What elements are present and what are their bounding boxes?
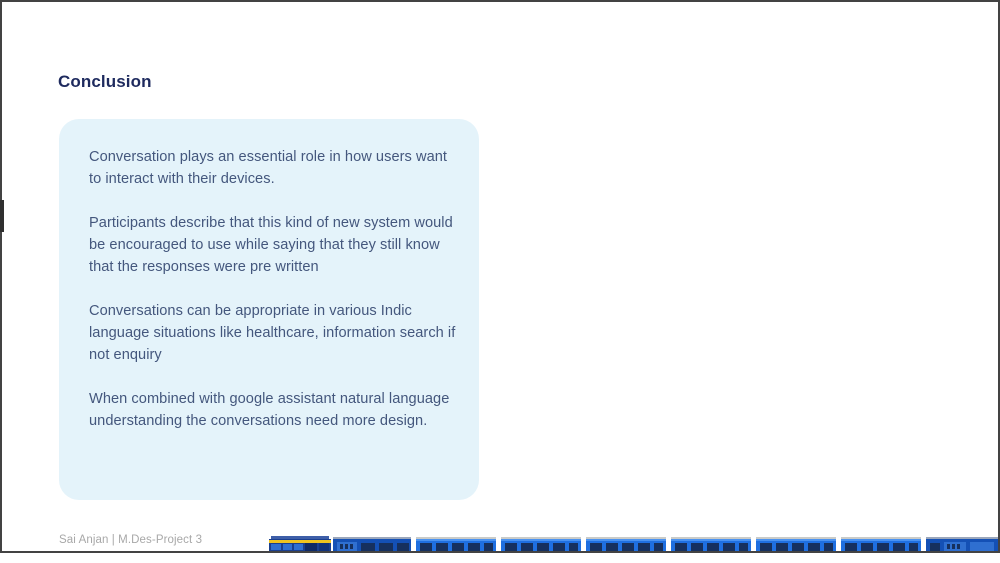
conclusion-paragraph-1: Conversation plays an essential role in …	[89, 146, 457, 190]
conclusion-paragraph-3: Conversations can be appropriate in vari…	[89, 300, 457, 366]
train-graphic	[267, 530, 998, 551]
conclusion-card: Conversation plays an essential role in …	[59, 119, 479, 500]
slide-frame: Conclusion Conversation plays an essenti…	[0, 0, 1000, 563]
train-coach	[756, 537, 836, 551]
card-body: Conversation plays an essential role in …	[89, 146, 467, 432]
footer-credit: Sai Anjan | M.Des-Project 3	[59, 534, 202, 546]
train-coach	[586, 537, 666, 551]
train-power-car	[333, 537, 411, 551]
frame-nick-left	[0, 200, 4, 232]
frame-edge-bottom	[0, 551, 1000, 553]
conclusion-paragraph-4: When combined with google assistant natu…	[89, 388, 457, 432]
train-coach	[416, 537, 496, 551]
train-coach	[841, 537, 921, 551]
frame-edge-left	[0, 0, 2, 553]
train-rear-car	[926, 537, 998, 551]
page-title: Conclusion	[58, 72, 152, 92]
frame-edge-top	[0, 0, 1000, 2]
conclusion-paragraph-2: Participants describe that this kind of …	[89, 212, 457, 278]
train-illustration	[267, 530, 998, 551]
train-coach	[671, 537, 751, 551]
slide-canvas: Conclusion Conversation plays an essenti…	[2, 2, 998, 551]
locomotive	[269, 536, 331, 551]
train-coach	[501, 537, 581, 551]
